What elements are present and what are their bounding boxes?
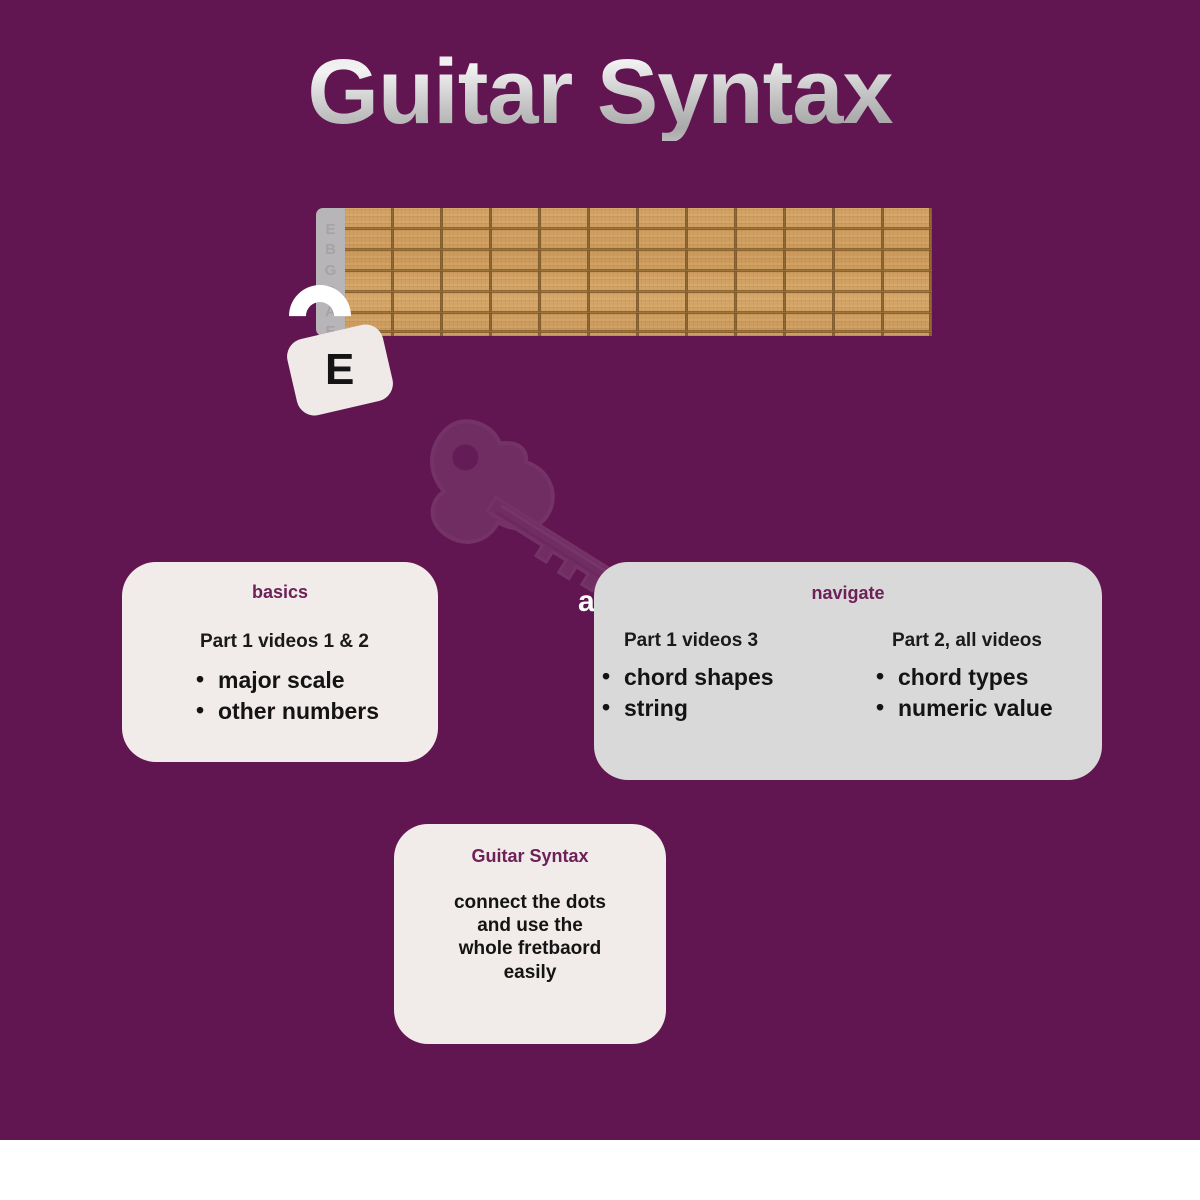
string-line-2 (345, 248, 932, 251)
card-navigate-column-1: Part 1 videos 3 chord shapes string (594, 630, 848, 725)
padlock-unlocked-icon: E (283, 285, 403, 415)
card-navigate-heading: navigate (594, 583, 1102, 604)
list-item: chord types (872, 662, 1102, 693)
padlock-letter: E (325, 348, 354, 392)
string-label-b: B (316, 242, 345, 257)
card-summary[interactable]: Guitar Syntax connect the dots and use t… (394, 824, 666, 1044)
string-line-3 (345, 269, 932, 272)
list-item: chord shapes (598, 662, 848, 693)
string-line-6 (345, 330, 932, 333)
card-navigate-bullet-list-2: chord types numeric value (872, 662, 1102, 725)
guitar-fretboard: E B G D A E (316, 208, 932, 336)
string-line-1 (345, 227, 932, 230)
card-navigate-columns: Part 1 videos 3 chord shapes string Part… (594, 630, 1102, 725)
list-item: other numbers (192, 696, 438, 727)
list-item: major scale (192, 665, 438, 696)
list-item: string (598, 693, 848, 724)
string-line-4 (345, 290, 932, 293)
card-summary-heading: Guitar Syntax (394, 846, 666, 867)
string-label-g: G (316, 263, 345, 278)
card-summary-body: connect the dots and use the whole fretb… (394, 891, 666, 984)
string-line-5 (345, 311, 932, 314)
card-basics-heading: basics (122, 582, 438, 603)
card-navigate-bullet-list-1: chord shapes string (598, 662, 848, 725)
fretboard-wood (345, 208, 932, 336)
list-item: numeric value (872, 693, 1102, 724)
string-label-e-high: E (316, 222, 345, 237)
card-basics-subheading: Part 1 videos 1 & 2 (200, 631, 438, 653)
card-basics-bullet-list: major scale other numbers (192, 665, 438, 728)
card-basics[interactable]: basics Part 1 videos 1 & 2 major scale o… (122, 562, 438, 762)
page-title: Guitar Syntax (0, 44, 1200, 141)
card-navigate-subheading-1: Part 1 videos 3 (624, 630, 848, 652)
poster-canvas: Guitar Syntax E B G D A E (0, 0, 1200, 1200)
purple-stage: Guitar Syntax E B G D A E (0, 0, 1200, 1140)
card-navigate-column-2: Part 2, all videos chord types numeric v… (848, 630, 1102, 725)
card-navigate[interactable]: navigate Part 1 videos 3 chord shapes st… (594, 562, 1102, 780)
card-navigate-subheading-2: Part 2, all videos (892, 630, 1102, 652)
